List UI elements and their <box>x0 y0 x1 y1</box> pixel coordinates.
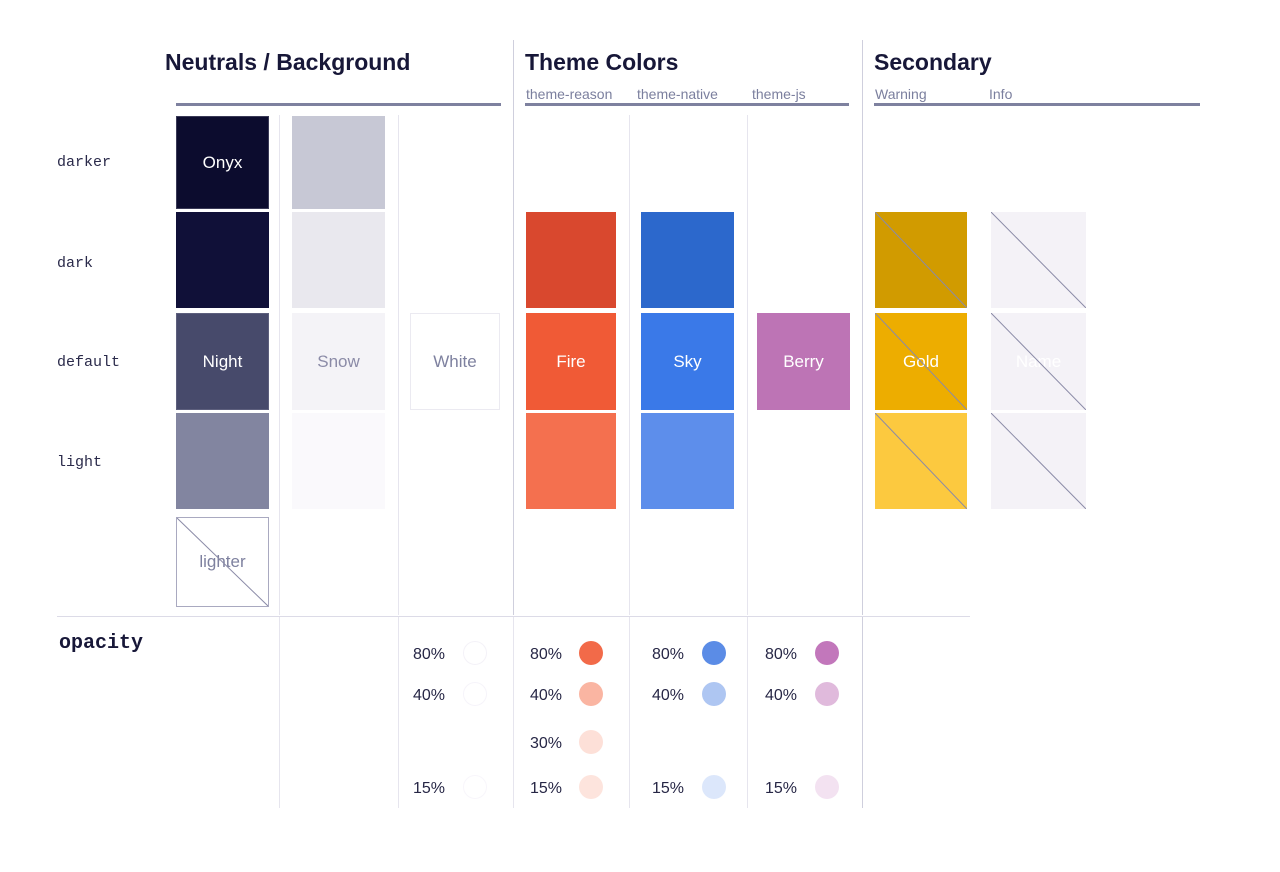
column-divider-2 <box>398 115 399 615</box>
swatch-fire-default[interactable]: Fire <box>526 313 616 410</box>
column-divider-4 <box>747 115 748 615</box>
section-rule-secondary <box>874 103 1200 106</box>
swatch-info-default[interactable]: Name <box>991 313 1086 410</box>
swatch-sky-dark[interactable] <box>641 212 734 308</box>
section-title-secondary: Secondary <box>874 49 992 75</box>
swatch-label: Snow <box>317 352 360 372</box>
column-divider-3 <box>629 115 630 615</box>
opacity-divider-4 <box>629 616 630 808</box>
opacity-label-fire-80: 80% <box>517 645 562 664</box>
opacity-label-white-40: 40% <box>400 686 445 705</box>
swatch-berry-default[interactable]: Berry <box>757 313 850 410</box>
opacity-dot-white-15[interactable] <box>463 775 487 799</box>
opacity-label-berry-80: 80% <box>752 645 797 664</box>
opacity-dot-sky-15[interactable] <box>702 775 726 799</box>
swatch-white-default[interactable]: White <box>410 313 500 410</box>
swatch-sky-light[interactable] <box>641 413 734 509</box>
swatch-snow-darker[interactable] <box>292 116 385 209</box>
swatch-snow-default[interactable]: Snow <box>292 313 385 410</box>
opacity-divider-1 <box>279 616 280 808</box>
opacity-dot-fire-15[interactable] <box>579 775 603 799</box>
section-sub-theme-reason: theme-reason <box>526 86 612 102</box>
row-label-default: default <box>57 354 120 372</box>
section-rule-theme <box>525 103 849 106</box>
deprecated-strike-icon <box>177 518 268 606</box>
opacity-divider-3 <box>513 616 514 808</box>
swatch-onyx-dark[interactable] <box>176 212 269 308</box>
section-sub-theme-js: theme-js <box>752 86 806 102</box>
swatch-label: White <box>433 352 476 372</box>
swatch-gold-dark[interactable] <box>875 212 967 308</box>
deprecated-strike-icon <box>875 212 967 308</box>
opacity-divider-2 <box>398 616 399 808</box>
palette-canvas: Neutrals / Background Theme Colors theme… <box>0 0 1280 872</box>
swatch-onyx-darker[interactable]: Onyx <box>176 116 269 209</box>
section-divider-secondary <box>862 40 863 615</box>
section-sub-info: Info <box>989 86 1012 102</box>
opacity-label-white-15: 15% <box>400 779 445 798</box>
section-title-neutrals: Neutrals / Background <box>165 49 410 75</box>
opacity-dot-white-40[interactable] <box>463 682 487 706</box>
opacity-section-divider <box>57 616 970 617</box>
swatch-label: Fire <box>556 352 585 372</box>
swatch-onyx-default[interactable]: Night <box>176 313 269 410</box>
opacity-divider-6 <box>862 616 863 808</box>
swatch-onyx-lighter[interactable]: lighter <box>176 517 269 607</box>
opacity-dot-fire-80[interactable] <box>579 641 603 665</box>
swatch-onyx-light[interactable] <box>176 413 269 509</box>
opacity-label-fire-30: 30% <box>517 734 562 753</box>
swatch-sky-default[interactable]: Sky <box>641 313 734 410</box>
deprecated-strike-icon <box>991 212 1086 308</box>
swatch-fire-dark[interactable] <box>526 212 616 308</box>
swatch-fire-light[interactable] <box>526 413 616 509</box>
section-rule-neutrals <box>176 103 501 106</box>
opacity-label-fire-15: 15% <box>517 779 562 798</box>
opacity-dot-sky-80[interactable] <box>702 641 726 665</box>
opacity-label-sky-40: 40% <box>639 686 684 705</box>
opacity-label-berry-15: 15% <box>752 779 797 798</box>
column-divider-1 <box>279 115 280 615</box>
swatch-snow-light[interactable] <box>292 413 385 509</box>
opacity-dot-berry-15[interactable] <box>815 775 839 799</box>
opacity-section-label: opacity <box>59 632 143 656</box>
opacity-dot-sky-40[interactable] <box>702 682 726 706</box>
row-label-darker: darker <box>57 154 111 172</box>
swatch-gold-default[interactable]: Gold <box>875 313 967 410</box>
deprecated-strike-icon <box>991 313 1086 410</box>
section-divider-theme <box>513 40 514 615</box>
opacity-divider-5 <box>747 616 748 808</box>
section-sub-warning: Warning <box>875 86 927 102</box>
section-sub-theme-native: theme-native <box>637 86 718 102</box>
opacity-label-sky-80: 80% <box>639 645 684 664</box>
swatch-info-dark[interactable] <box>991 212 1086 308</box>
section-title-theme: Theme Colors <box>525 49 678 75</box>
swatch-snow-dark[interactable] <box>292 212 385 308</box>
opacity-dot-berry-40[interactable] <box>815 682 839 706</box>
opacity-dot-berry-80[interactable] <box>815 641 839 665</box>
opacity-dot-white-80[interactable] <box>463 641 487 665</box>
swatch-label: Night <box>203 352 243 372</box>
opacity-label-white-80: 80% <box>400 645 445 664</box>
deprecated-strike-icon <box>875 313 967 410</box>
opacity-dot-fire-40[interactable] <box>579 682 603 706</box>
opacity-label-sky-15: 15% <box>639 779 684 798</box>
swatch-gold-light[interactable] <box>875 413 967 509</box>
swatch-info-light[interactable] <box>991 413 1086 509</box>
row-label-dark: dark <box>57 255 93 273</box>
opacity-label-berry-40: 40% <box>752 686 797 705</box>
deprecated-strike-icon <box>991 413 1086 509</box>
opacity-dot-fire-30[interactable] <box>579 730 603 754</box>
swatch-label: Berry <box>783 352 824 372</box>
swatch-label: Onyx <box>203 153 243 173</box>
swatch-label: Sky <box>673 352 701 372</box>
opacity-label-fire-40: 40% <box>517 686 562 705</box>
deprecated-strike-icon <box>875 413 967 509</box>
row-label-light: light <box>57 454 102 472</box>
